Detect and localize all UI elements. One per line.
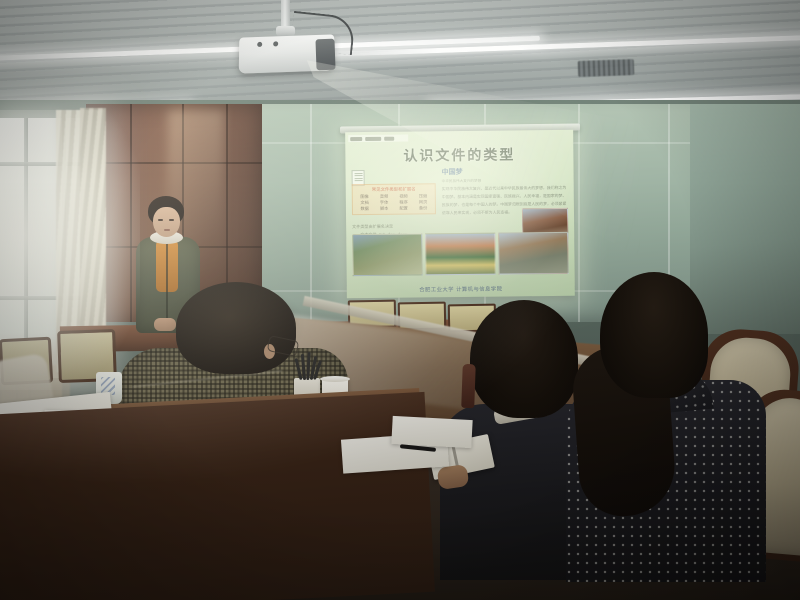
handout-sheet	[391, 416, 472, 448]
slide-table-caption: 常见文件类型和扩展名	[355, 186, 433, 193]
toolbar-chip	[384, 136, 394, 140]
table-cell: 脚本	[380, 206, 388, 212]
projector-knob	[273, 41, 278, 46]
slide-app-toolbar	[348, 135, 408, 143]
slide-footer: 合肥工业大学 计算机与信息学院	[347, 284, 575, 294]
mouth	[164, 229, 170, 231]
desk-microphone	[461, 364, 476, 408]
eye	[169, 219, 174, 221]
slide-photo-strip	[352, 232, 568, 276]
curtain	[80, 108, 106, 358]
cup-rim	[320, 376, 350, 382]
slide-sub-heading-note: 中华民族伟大复兴的梦想	[442, 178, 568, 185]
conference-room-photo: 认识文件的类型 常见文件类型和扩展名 图像 音频 视频 压缩	[0, 0, 800, 600]
slide-photo	[425, 233, 495, 276]
projector-knob	[257, 42, 262, 47]
slide-title: 认识文件的类型	[345, 144, 573, 166]
conference-table-front-panel	[0, 392, 435, 600]
attendee-far-right	[566, 272, 776, 582]
slide-paragraph: 中国梦。基本内涵是实现国家富强、民族振兴、人民幸福，是国家的梦、	[442, 193, 568, 200]
presenter-face	[153, 207, 180, 237]
slide-sub-heading: 中国梦	[442, 166, 568, 177]
eye	[158, 219, 163, 221]
toolbar-chip	[365, 136, 381, 140]
toolbar-chip	[350, 137, 362, 141]
attendee-hair	[470, 300, 578, 418]
projector-lens	[315, 39, 335, 71]
slide-bullet: 文件类型由扩展名决定	[352, 223, 436, 229]
projection-screen: 认识文件的类型 常见文件类型和扩展名 图像 音频 视频 压缩	[345, 130, 575, 298]
ceiling-vent-icon	[578, 59, 635, 77]
slide-photo	[498, 232, 568, 275]
slide-paragraph: 实现中华民族伟大复兴，是近代以来中华民族最伟大的梦想，我们称之为	[442, 185, 568, 192]
table-cell: 配置	[399, 205, 407, 211]
attendee-hair	[600, 272, 708, 398]
table-row: 数据 脚本 配置 备份	[355, 205, 433, 212]
table-cell: 备份	[419, 205, 427, 211]
slide-photo	[352, 233, 422, 276]
slide-filetype-table: 常见文件类型和扩展名 图像 音频 视频 压缩 文档 字体 程序 网页 数据	[352, 183, 436, 215]
table-cell: 数据	[360, 206, 368, 212]
projector-mount-collar	[276, 26, 295, 36]
attendee-hair	[176, 282, 296, 374]
